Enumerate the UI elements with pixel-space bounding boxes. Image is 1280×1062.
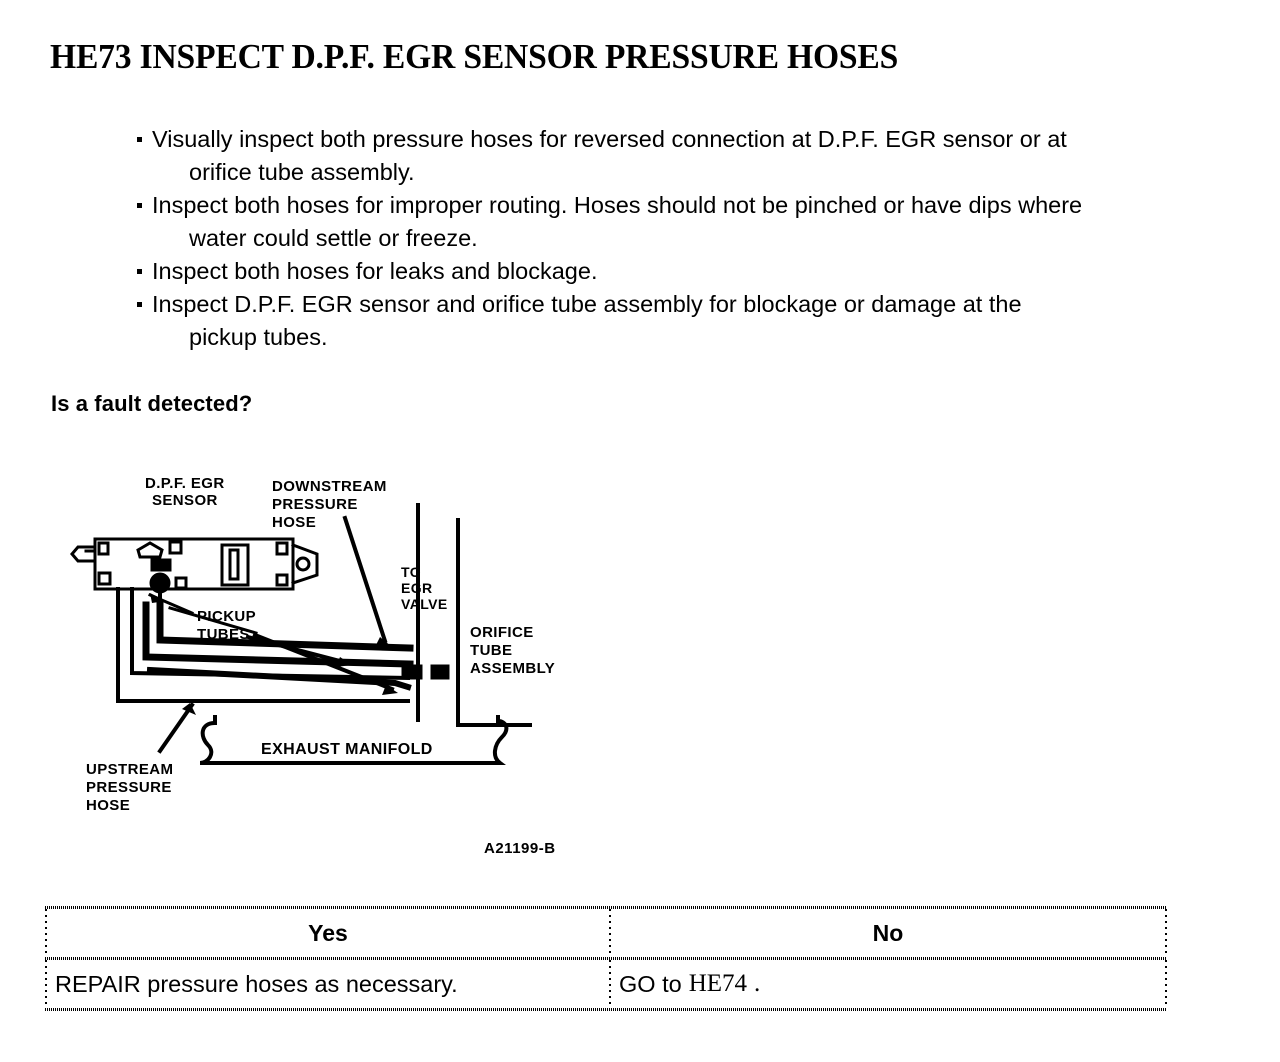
sensor-detail-vent	[138, 543, 162, 557]
label-sensor-line2: SENSOR	[152, 492, 218, 509]
label-upstream-line3: HOSE	[86, 797, 130, 814]
bullet-dot-icon	[137, 137, 142, 142]
table-row: REPAIR pressure hoses as necessary. GO t…	[45, 960, 1167, 1008]
action-cell-yes: REPAIR pressure hoses as necessary.	[47, 960, 609, 1008]
header-cell-no: No	[611, 909, 1165, 957]
action-cell-no: GO to HE74 .	[611, 960, 1165, 1008]
label-to-egr-line1: TO	[401, 564, 421, 580]
sensor-body	[95, 539, 293, 589]
action-label-no-prefix: GO to	[619, 971, 682, 998]
label-orifice-line2: TUBE	[470, 642, 512, 659]
action-link-he74[interactable]: HE74	[689, 970, 747, 998]
bullet-dot-icon	[137, 302, 142, 307]
header-cell-yes: Yes	[47, 909, 609, 957]
instruction-list: Visually inspect both pressure hoses for…	[137, 123, 1257, 354]
list-item-text-cont: pickup tubes.	[152, 321, 1257, 354]
orifice-fitting-a	[403, 666, 421, 678]
label-exhaust-manifold: EXHAUST MANIFOLD	[261, 741, 433, 758]
label-pickup-line2: TUBES	[197, 626, 250, 643]
bullet-dot-icon	[137, 269, 142, 274]
list-item-text-cont: orifice tube assembly.	[152, 156, 1257, 189]
action-label-no-suffix: .	[754, 970, 760, 998]
label-downstream-line3: HOSE	[272, 514, 316, 531]
answer-table: Yes No REPAIR pressure hoses as necessar…	[45, 906, 1167, 1011]
table-border-bottom	[45, 1008, 1167, 1011]
header-label-yes: Yes	[308, 920, 348, 947]
list-item-text: Inspect both hoses for leaks and blockag…	[152, 255, 1257, 288]
label-to-egr-line3: VALVE	[401, 596, 448, 612]
list-item: Visually inspect both pressure hoses for…	[137, 123, 1257, 189]
list-item: Inspect both hoses for improper routing.…	[137, 189, 1257, 255]
orifice-tube-right-wall	[458, 520, 530, 725]
label-pickup-line1: PICKUP	[197, 608, 256, 625]
label-downstream-line2: PRESSURE	[272, 496, 358, 513]
table-border-right	[1165, 909, 1167, 957]
list-item-text: Inspect both hoses for improper routing.…	[152, 189, 1257, 222]
table-border-right-2	[1165, 960, 1167, 1008]
connector-port	[297, 558, 309, 570]
label-orifice-line3: ASSEMBLY	[470, 660, 555, 677]
leader-upstream-hose	[160, 705, 192, 751]
page-title: HE73 INSPECT D.P.F. EGR SENSOR PRESSURE …	[50, 37, 898, 77]
bullet-dot-icon	[137, 203, 142, 208]
table-header-row: Yes No	[45, 909, 1167, 957]
orifice-fitting-b	[432, 666, 448, 678]
label-upstream-line1: UPSTREAM	[86, 761, 173, 778]
list-item-text: Inspect D.P.F. EGR sensor and orifice tu…	[152, 288, 1257, 321]
label-upstream-line2: PRESSURE	[86, 779, 172, 796]
list-item: Inspect D.P.F. EGR sensor and orifice tu…	[137, 288, 1257, 354]
list-item-text: Visually inspect both pressure hoses for…	[152, 123, 1257, 156]
header-label-no: No	[873, 920, 904, 947]
diagram-dpf-egr-sensor: D.P.F. EGR SENSOR DOWNSTREAM PRESSURE HO…	[0, 465, 640, 865]
sensor-left-nipple	[72, 547, 95, 561]
label-sensor-line1: D.P.F. EGR	[145, 475, 225, 492]
label-orifice-line1: ORIFICE	[470, 624, 534, 641]
label-downstream-line1: DOWNSTREAM	[272, 478, 387, 495]
diagram-svg: D.P.F. EGR SENSOR DOWNSTREAM PRESSURE HO…	[0, 465, 640, 865]
list-item-text-cont: water could settle or freeze.	[152, 222, 1257, 255]
fault-question: Is a fault detected?	[51, 391, 252, 417]
list-item: Inspect both hoses for leaks and blockag…	[137, 255, 1257, 288]
pickup-tube-fitting	[151, 574, 169, 592]
leader-downstream-hose	[345, 518, 385, 641]
action-label-yes: REPAIR pressure hoses as necessary.	[55, 971, 458, 998]
figure-reference-code: A21199-B	[484, 840, 556, 857]
label-to-egr-line2: EGR	[401, 580, 433, 596]
